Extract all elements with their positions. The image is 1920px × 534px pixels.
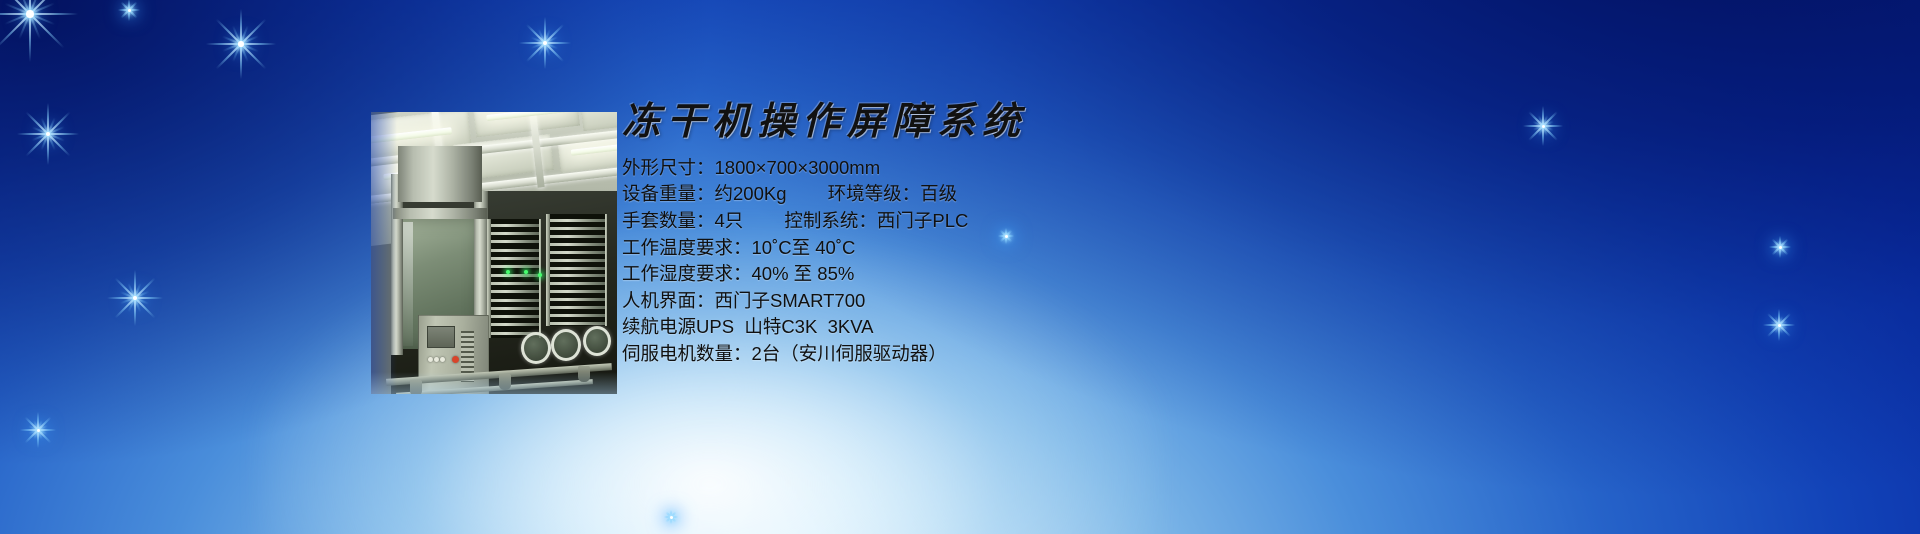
spec-line-temperature: 工作温度要求：10˚C至 40˚C	[622, 235, 1622, 262]
spec-line-ups: 续航电源UPS 山特C3K 3KVA	[622, 314, 1622, 341]
text-block: 冻干机操作屏障系统 外形尺寸：1800×700×3000mm设备重量：约200K…	[622, 100, 1622, 368]
control-button-3	[440, 357, 445, 362]
control-button-2	[434, 357, 439, 362]
spec-line-weight-and-class: 设备重量：约200Kg 环境等级：百级	[622, 181, 1622, 208]
spec-line-humidity: 工作湿度要求：40% 至 85%	[622, 261, 1622, 288]
spec-line-hmi: 人机界面：西门子SMART700	[622, 288, 1622, 315]
control-button-1	[428, 357, 433, 362]
tray-rack-right	[546, 214, 608, 327]
spec-line-gloves-and-plc: 手套数量：4只 控制系统：西门子PLC	[622, 208, 1622, 235]
product-photo	[371, 112, 617, 394]
spec-line-dimensions: 外形尺寸：1800×700×3000mm	[622, 155, 1622, 182]
hmi-screen	[427, 326, 455, 348]
spec-line-servo-motors: 伺服电机数量：2台（安川伺服驱动器）	[622, 341, 1622, 368]
product-photo-content	[371, 112, 617, 394]
promotional-banner: 冻干机操作屏障系统 外形尺寸：1800×700×3000mm设备重量：约200K…	[0, 0, 1920, 534]
photo-bottom-fade	[371, 372, 617, 394]
status-led-2	[524, 270, 528, 274]
specification-list: 外形尺寸：1800×700×3000mm设备重量：约200Kg 环境等级：百级手…	[622, 155, 1622, 368]
photo-left-fade	[371, 112, 397, 394]
glove-port-2	[551, 329, 581, 361]
tray-rack-left	[487, 219, 541, 337]
cross-beam	[393, 208, 486, 219]
glove-port-3	[583, 326, 611, 356]
glove-port-1	[521, 332, 551, 364]
overhead-hood	[398, 146, 482, 202]
banner-title: 冻干机操作屏障系统	[622, 100, 1622, 145]
emergency-stop-button	[452, 356, 459, 363]
